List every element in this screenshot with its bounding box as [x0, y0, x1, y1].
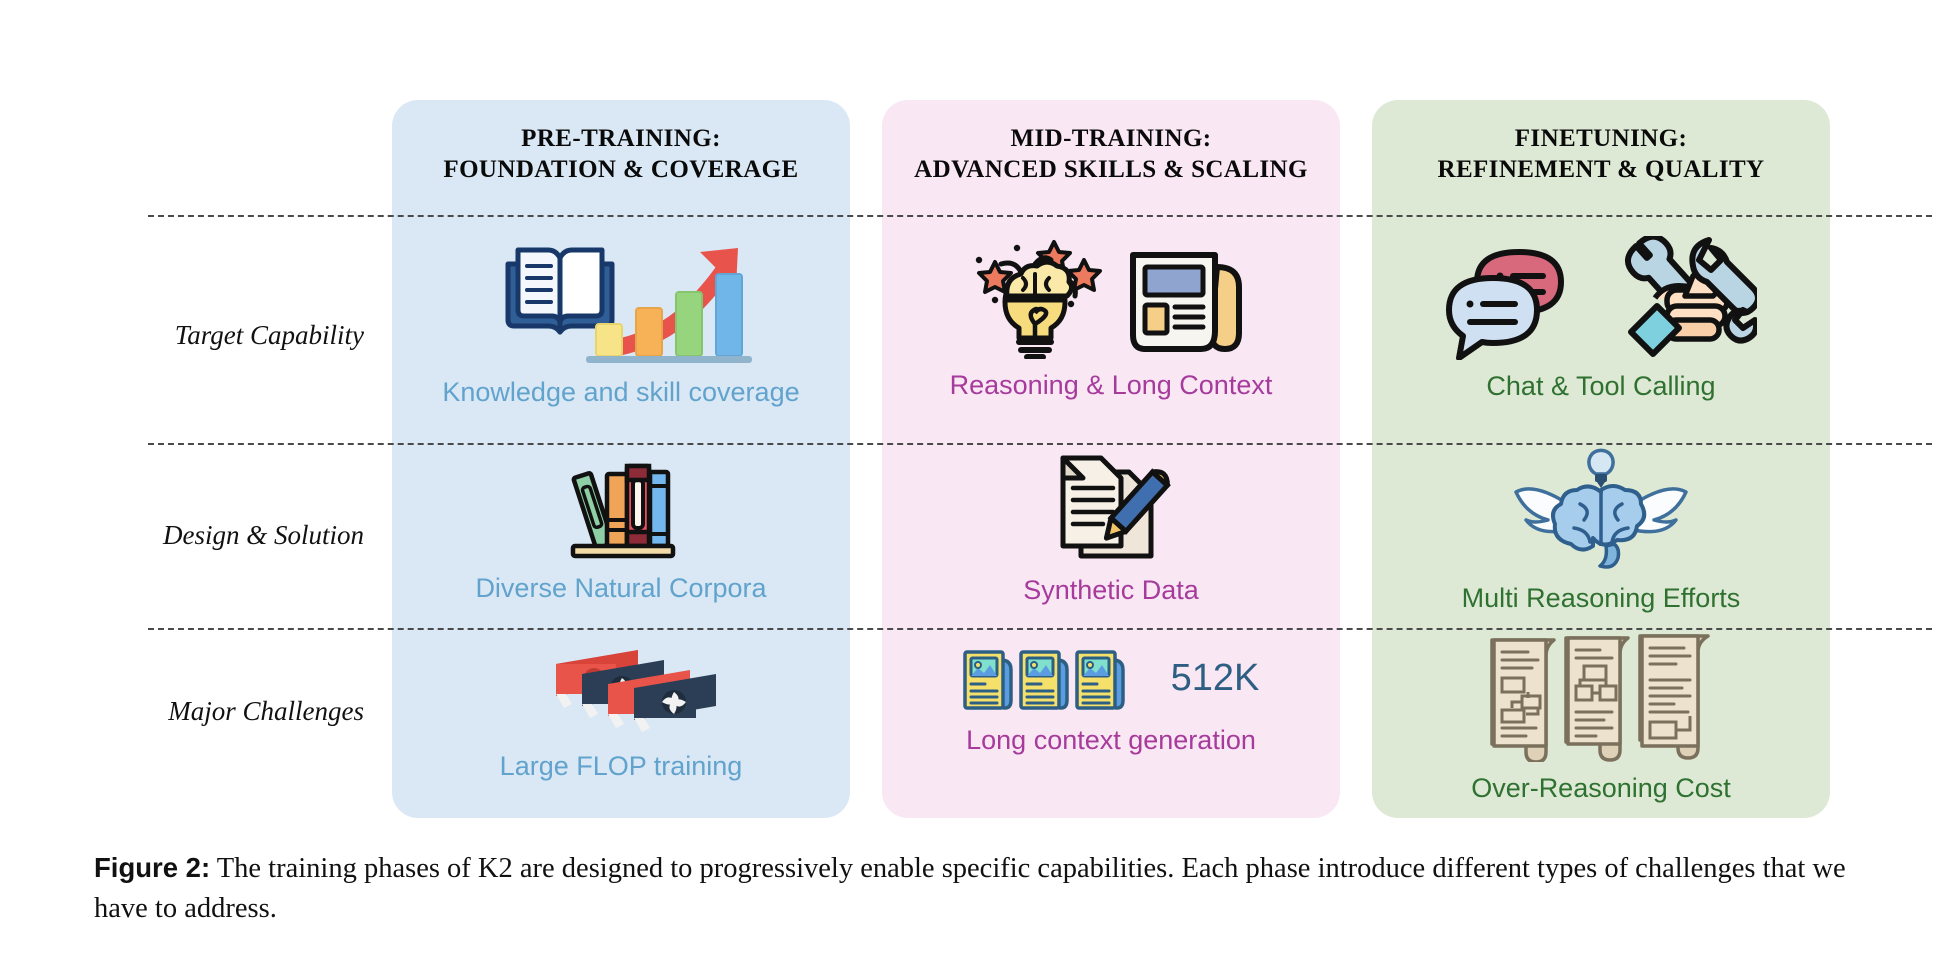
column-header-line2: ADVANCED SKILLS & SCALING: [882, 155, 1340, 186]
newspaper-icon: [1119, 235, 1257, 359]
scrolls-flowchart-icon: [1482, 632, 1720, 762]
cell-caption: Large FLOP training: [500, 752, 743, 782]
row-divider-top: [148, 215, 1932, 217]
cell-caption: Reasoning & Long Context: [950, 371, 1273, 401]
chat-bubbles-icon: [1445, 242, 1595, 360]
cell-caption: Over-Reasoning Cost: [1471, 774, 1731, 804]
cell-caption: Chat & Tool Calling: [1486, 372, 1715, 402]
row-divider-middle: [148, 443, 1932, 445]
column-header-line1: PRE-TRAINING:: [392, 124, 850, 155]
open-book-icon: [486, 238, 756, 366]
cell-artwork: [486, 238, 756, 366]
cell-major-challenges-mid-training: 512K Long context generation: [882, 648, 1340, 756]
cell-artwork: [965, 234, 1257, 359]
row-label-target-capability: Target Capability: [0, 320, 376, 351]
cell-major-challenges-finetuning: Over-Reasoning Cost: [1372, 632, 1830, 804]
cell-artwork: [1051, 452, 1171, 564]
column-header-mid-training: MID-TRAINING: ADVANCED SKILLS & SCALING: [882, 124, 1340, 185]
cell-target-capability-mid-training: Reasoning & Long Context: [882, 234, 1340, 401]
winged-brain-lightbulb-icon: [1510, 448, 1692, 572]
column-header-line2: FOUNDATION & COVERAGE: [392, 155, 850, 186]
hand-holding-wrench-icon: [1609, 236, 1757, 360]
cell-target-capability-pre-training: Knowledge and skill coverage: [392, 238, 850, 408]
context-length-badge: 512K: [1171, 657, 1260, 706]
cell-design-solution-mid-training: Synthetic Data: [882, 452, 1340, 606]
column-header-finetuning: FINETUNING: REFINEMENT & QUALITY: [1372, 124, 1830, 185]
row-divider-bottom: [148, 628, 1932, 630]
cell-caption: Long context generation: [966, 726, 1256, 756]
document-with-pen-icon: [1051, 452, 1171, 564]
cell-artwork: [1445, 236, 1757, 360]
figure-caption-label: Figure 2:: [94, 852, 210, 883]
figure-caption: Figure 2: The training phases of K2 are …: [94, 848, 1884, 930]
cell-design-solution-finetuning: Multi Reasoning Efforts: [1372, 448, 1830, 614]
cell-target-capability-finetuning: Chat & Tool Calling: [1372, 236, 1830, 402]
column-header-line1: FINETUNING:: [1372, 124, 1830, 155]
gpu-cards-icon: [516, 648, 726, 740]
cell-artwork: [1510, 448, 1692, 572]
row-label-major-challenges: Major Challenges: [0, 696, 376, 727]
figure-caption-body: The training phases of K2 are designed t…: [94, 853, 1846, 924]
cell-artwork: [565, 456, 677, 562]
cell-artwork: [516, 648, 726, 740]
column-header-line2: REFINEMENT & QUALITY: [1372, 155, 1830, 186]
cell-artwork: 512K: [963, 648, 1260, 714]
cell-caption: Synthetic Data: [1023, 576, 1199, 606]
cell-design-solution-pre-training: Diverse Natural Corpora: [392, 456, 850, 604]
bookshelf-books-icon: [565, 456, 677, 562]
row-label-design-solution: Design & Solution: [0, 520, 376, 551]
brain-lightbulb-idea-icon: [965, 234, 1105, 359]
cell-caption: Knowledge and skill coverage: [442, 378, 799, 408]
cell-major-challenges-pre-training: Large FLOP training: [392, 648, 850, 782]
figure-container: PRE-TRAINING: FOUNDATION & COVERAGE MID-…: [0, 0, 1954, 968]
column-header-line1: MID-TRAINING:: [882, 124, 1340, 155]
cell-caption: Diverse Natural Corpora: [475, 574, 766, 604]
cell-artwork: [1482, 632, 1720, 762]
cell-caption: Multi Reasoning Efforts: [1462, 584, 1741, 614]
document-image-stack-icon: [963, 648, 1131, 714]
column-header-pre-training: PRE-TRAINING: FOUNDATION & COVERAGE: [392, 124, 850, 185]
